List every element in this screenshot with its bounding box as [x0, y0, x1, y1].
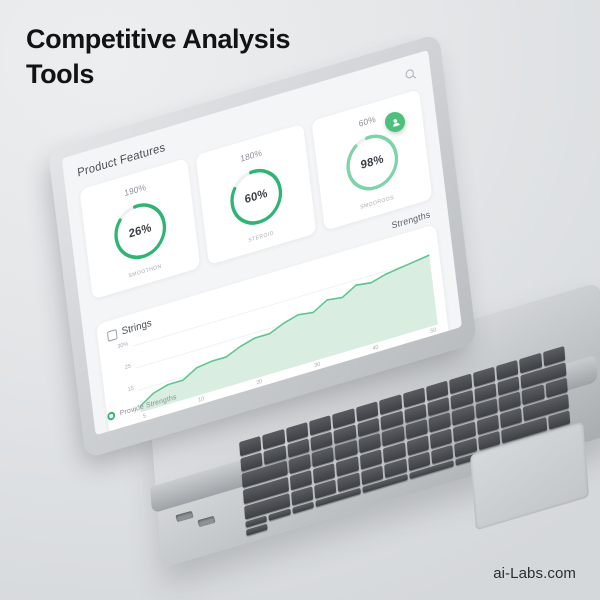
- donut-chart: 26%: [107, 191, 174, 271]
- x-tick-label: 5: [143, 413, 147, 420]
- donut-chart: 60%: [223, 157, 290, 237]
- x-tick-label: 30: [314, 362, 321, 370]
- y-tick-label: 25: [125, 363, 132, 371]
- metric-card[interactable]: 180% 60% STEROID: [196, 124, 317, 266]
- y-tick-label: 30%: [117, 341, 128, 350]
- metric-card[interactable]: 190% 26% SMOOTHON: [79, 158, 200, 300]
- legend-dot-icon: [276, 383, 285, 393]
- donut-chart: 98%: [339, 122, 406, 202]
- legend-label: Noods Set: [234, 390, 262, 404]
- search-icon[interactable]: [404, 66, 418, 83]
- metric-card[interactable]: 60% 98% SMOOROOS: [312, 89, 433, 231]
- x-tick-label: 50: [430, 327, 437, 335]
- donut-value: 60%: [223, 157, 290, 237]
- legend-dot-icon: [223, 399, 232, 409]
- footer-brand: ai-Labs.com: [493, 565, 576, 582]
- metric-caption: STEROID: [248, 230, 274, 244]
- metric-top-label: 60%: [358, 114, 376, 129]
- chart-square-icon: [107, 328, 118, 341]
- y-tick-label: 15: [127, 386, 134, 394]
- x-tick-label: 40: [372, 344, 379, 352]
- mockup-scene: Competitive Analysis Tools Product Featu…: [0, 0, 600, 600]
- x-tick-label: 20: [256, 379, 263, 387]
- donut-value: 98%: [339, 122, 406, 202]
- page-title: Competitive Analysis Tools: [26, 22, 290, 91]
- x-tick-label: 10: [198, 396, 205, 404]
- donut-value: 26%: [107, 191, 174, 271]
